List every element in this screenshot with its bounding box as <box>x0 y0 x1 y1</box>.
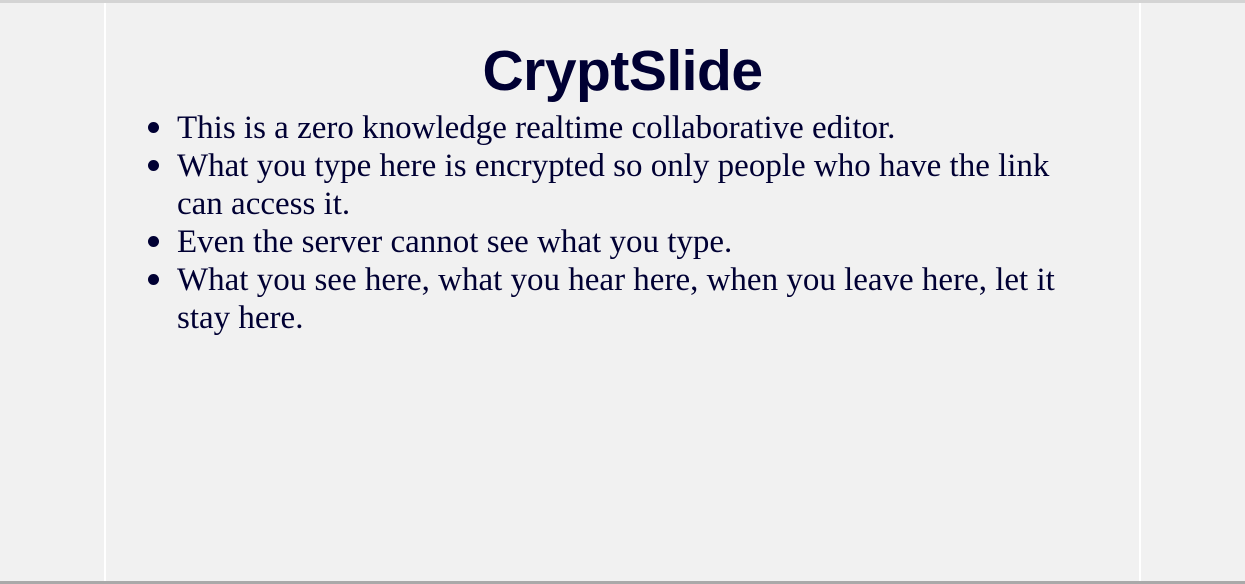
bullet-list-item[interactable]: What you type here is encrypted so only … <box>106 147 1139 223</box>
bullet-dot-icon <box>148 236 159 247</box>
bullet-text[interactable]: What you see here, what you hear here, w… <box>177 261 1085 337</box>
bullet-text[interactable]: This is a zero knowledge realtime collab… <box>177 109 1085 147</box>
bullet-list-item[interactable]: What you see here, what you hear here, w… <box>106 261 1139 337</box>
bullet-text[interactable]: Even the server cannot see what you type… <box>177 223 1085 261</box>
left-gutter <box>0 3 104 581</box>
bullet-text[interactable]: What you type here is encrypted so only … <box>177 147 1085 223</box>
bullet-list-item[interactable]: This is a zero knowledge realtime collab… <box>106 109 1139 147</box>
slide-title[interactable]: CryptSlide <box>106 3 1139 103</box>
right-gutter <box>1141 3 1245 581</box>
slide-bullet-list[interactable]: This is a zero knowledge realtime collab… <box>106 109 1139 337</box>
bullet-dot-icon <box>148 160 159 171</box>
bullet-dot-icon <box>148 122 159 133</box>
bullet-list-item[interactable]: Even the server cannot see what you type… <box>106 223 1139 261</box>
slide-editor-window: CryptSlide This is a zero knowledge real… <box>0 0 1245 584</box>
bullet-dot-icon <box>148 274 159 285</box>
slide-canvas[interactable]: CryptSlide This is a zero knowledge real… <box>106 3 1139 581</box>
